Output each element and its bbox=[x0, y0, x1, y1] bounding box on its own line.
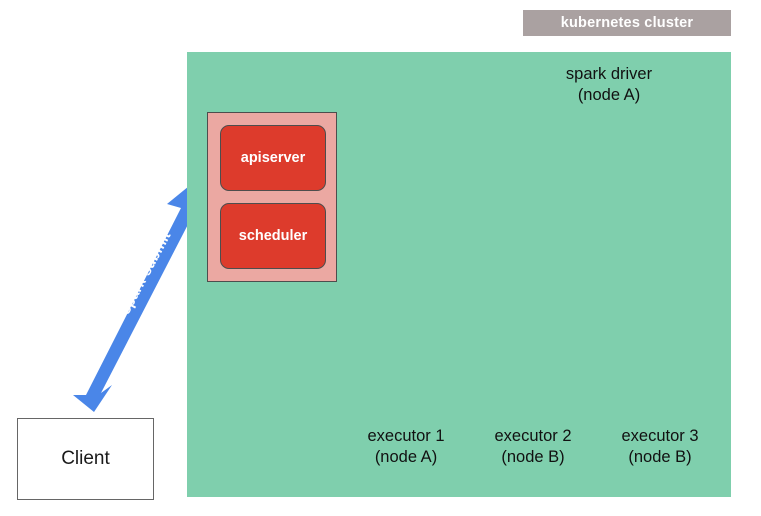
apiserver-pod[interactable]: apiserver bbox=[220, 125, 326, 191]
kubernetes-cluster-banner: kubernetes cluster bbox=[523, 10, 731, 36]
executor-2-label: executor 2 (node B) bbox=[465, 426, 601, 467]
spark-submit-arrow bbox=[73, 173, 205, 412]
control-plane-front-face: apiserver scheduler bbox=[207, 112, 337, 282]
spark-driver-label: spark driver (node A) bbox=[519, 64, 699, 105]
client-box[interactable]: Client bbox=[17, 418, 154, 500]
executor-1-label: executor 1 (node A) bbox=[338, 426, 474, 467]
control-plane-box: apiserver scheduler bbox=[207, 70, 382, 282]
executor-3-label: executor 3 (node B) bbox=[592, 426, 728, 467]
scheduler-pod[interactable]: scheduler bbox=[220, 203, 326, 269]
diagram-canvas: kubernetes cluster apiserver scheduler s… bbox=[0, 0, 761, 516]
